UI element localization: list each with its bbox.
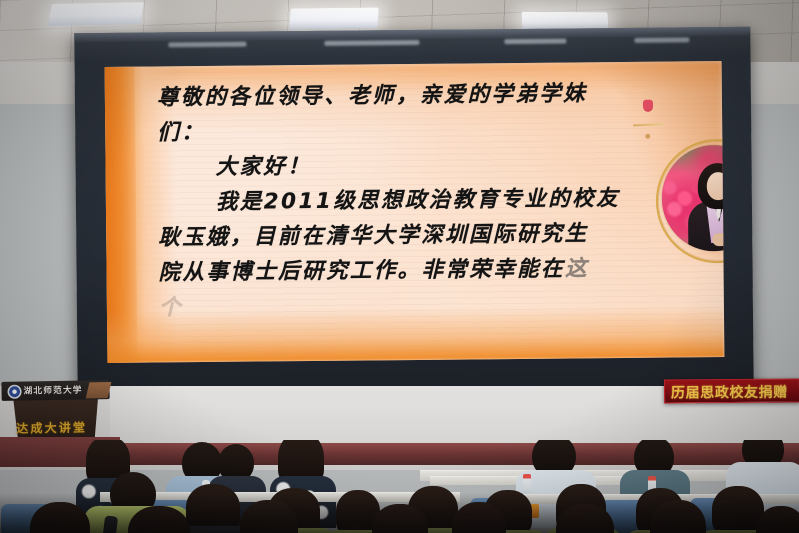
- slide-text-line: 我是2011级思想政治教育专业的校友: [158, 181, 628, 221]
- slide-text-line: 尊敬的各位领导、老师，亲爱的学弟学妹: [157, 81, 587, 110]
- presentation-slide: 尊敬的各位领导、老师，亲爱的学弟学妹 们： 大家好！ 我是2011级思想政治教育…: [105, 61, 725, 363]
- slide-text-line-fading: 这: [565, 256, 589, 281]
- projection-screen: 尊敬的各位领导、老师，亲爱的学弟学妹 们： 大家好！ 我是2011级思想政治教育…: [74, 27, 753, 395]
- university-seal-logo-icon: [7, 385, 21, 399]
- hall-name-label: 达成大讲堂: [16, 418, 87, 436]
- ceiling-light-panel: [289, 8, 379, 30]
- podium-wood-cap: [86, 382, 112, 398]
- slide-text-line: 院从事博士后研究工作。非常荣幸能在: [158, 257, 565, 286]
- decorative-seal-icon: [643, 100, 653, 112]
- bezel-reflection: [324, 40, 419, 46]
- bezel-reflection: [504, 39, 566, 45]
- university-name-label: 湖北师范大学: [23, 383, 82, 397]
- lecture-hall-photo: 尊敬的各位领导、老师，亲爱的学弟学妹 们： 大家好！ 我是2011级思想政治教育…: [0, 0, 799, 533]
- water-bottle: [523, 474, 531, 494]
- portrait-hands: [712, 233, 724, 246]
- slide-text-line: 大家好！: [157, 146, 627, 186]
- bezel-reflection: [168, 42, 246, 48]
- bezel-reflection: [634, 37, 689, 43]
- alumna-portrait: [661, 145, 724, 252]
- slide-text-line: 们：: [157, 120, 205, 145]
- decorative-dot: [645, 134, 650, 139]
- slide-text-line: 耿玉娥，目前在清华大学深圳国际研究生: [158, 221, 588, 250]
- donation-banner-label: 历届思政校友捐赠: [671, 382, 788, 403]
- slide-text-line-faint: 个: [159, 295, 183, 320]
- portrait-face: [707, 172, 725, 200]
- ceiling-light-panel: [48, 2, 144, 26]
- donation-banner: 历届思政校友捐赠: [664, 379, 799, 404]
- audience-area: [0, 440, 799, 533]
- slide-letter-text: 尊敬的各位领导、老师，亲爱的学弟学妹 们： 大家好！ 我是2011级思想政治教育…: [157, 76, 629, 326]
